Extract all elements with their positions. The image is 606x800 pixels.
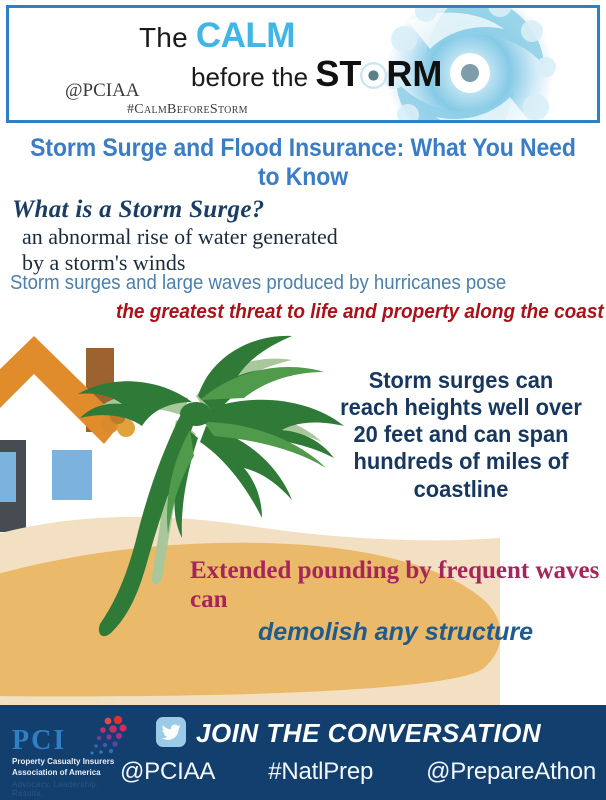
logo-line-one: The CALM [139,18,499,53]
twitter-bird-icon [156,717,186,747]
header-handle: @PCIAA [65,80,140,102]
page-title: Storm Surge and Flood Insurance: What Yo… [24,134,582,192]
question-label: What is a Storm Surge? [12,193,265,224]
pci-tagline-secondary: Advocacy. Leadership. Results. [12,780,130,798]
pounding-statement: Extended pounding by frequent waves can … [190,556,600,647]
pci-logo: PCI [10,713,130,793]
campaign-logo: The CALM before the STRM [139,18,499,92]
pci-dot-pattern-icon [82,715,128,757]
twitter-icon[interactable] [156,717,186,747]
pci-tagline-primary: Property Casualty Insurers Association o… [12,757,132,779]
logo-storm-post: RM [386,53,442,94]
header-banner: The CALM before the STRM @PCIAA #CalmBef… [6,5,600,123]
header-hashtag: #CalmBeforeStorm [127,102,248,118]
logo-storm-pre: ST [315,53,361,94]
pounding-line-one: Extended pounding by frequent waves can [190,556,600,614]
window-shape [52,450,92,500]
social-hashtag-natlprep[interactable]: #NatlPrep [268,758,373,786]
pounding-line-two: demolish any structure [258,618,600,647]
door-window-shape [0,452,16,502]
storm-eye-icon [360,62,387,89]
logo-before-the: before the [191,62,308,92]
logo-storm: STRM [315,53,442,94]
social-handles-row: @PCIAA #NatlPrep @PrepareAthon [120,758,596,786]
threat-line-one: Storm surges and large waves produced by… [10,272,559,295]
definition-block: What is a Storm Surge?an abnormal rise o… [12,193,594,276]
logo-calm: CALM [196,16,295,55]
threat-line-two: the greatest threat to life and property… [116,301,576,324]
header-banner-inner: The CALM before the STRM @PCIAA #CalmBef… [9,8,597,120]
pci-tagline-line-two: Association of America [12,768,132,779]
social-handle-prepareathon[interactable]: @PrepareAthon [426,758,596,786]
pci-wordmark: PCI [12,725,66,757]
social-handle-pciaa[interactable]: @PCIAA [120,758,215,786]
palm-crown [180,402,212,426]
logo-the: The [139,22,188,53]
answer-text: an abnormal rise of water generated by a… [22,224,342,276]
pci-tagline-line-one: Property Casualty Insurers [12,757,132,768]
threat-statement: Storm surges and large waves produced by… [10,272,600,324]
surge-heights-text: Storm surges can reach heights well over… [337,367,586,503]
infographic-poster: The CALM before the STRM @PCIAA #CalmBef… [0,0,606,800]
footer-bar: PCI [0,705,606,800]
join-conversation-label: JOIN THE CONVERSATION [196,718,541,749]
logo-line-two: before the STRM [191,56,499,92]
